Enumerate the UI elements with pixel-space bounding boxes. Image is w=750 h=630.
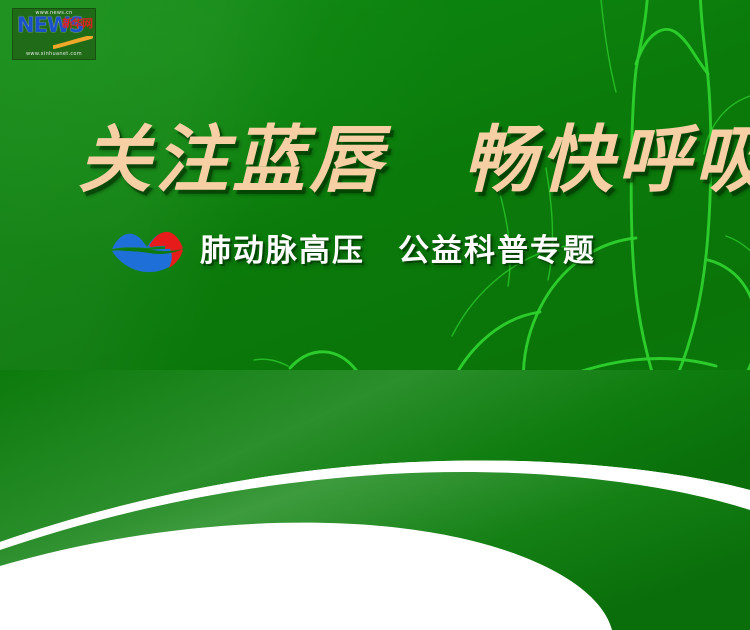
pulmonary-hypertension-banner: www.news.cn NEWS 新华网 www.xinhuanet.com 关… (0, 0, 750, 630)
page-title: 关注蓝唇 畅快呼吸 (78, 118, 678, 204)
swoosh-icon (53, 36, 93, 49)
subtitle-row: 肺动脉高压 公益科普专题 (108, 226, 596, 276)
subtitle-text: 肺动脉高压 公益科普专题 (200, 234, 596, 268)
green-background (0, 0, 750, 630)
logo-wordmark-chinese: 新华网 (46, 18, 92, 29)
lip-print-icon (108, 226, 186, 276)
logo-url-bottom: www.xinhuanet.com (13, 51, 95, 58)
xinhuanet-logo[interactable]: www.news.cn NEWS 新华网 www.xinhuanet.com (12, 8, 96, 60)
